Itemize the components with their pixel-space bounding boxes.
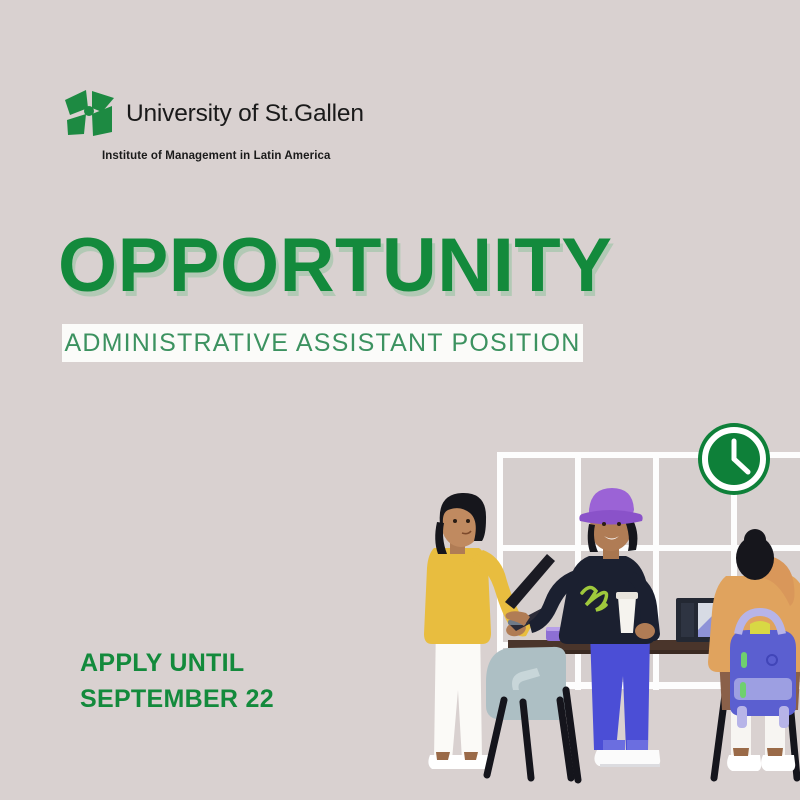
deadline-line-1: APPLY UNTIL [80, 645, 274, 681]
position-subtitle: ADMINISTRATIVE ASSISTANT POSITION [64, 329, 580, 358]
poster-canvas: University of St.Gallen Institute of Man… [0, 0, 800, 800]
university-logo: University of St.Gallen [62, 88, 364, 144]
deadline-line-2: SEPTEMBER 22 [80, 681, 274, 717]
office-chair [486, 647, 571, 778]
university-of-st-gallen-logo-mark [62, 88, 116, 144]
clock-icon [697, 422, 771, 496]
application-deadline: APPLY UNTIL SEPTEMBER 22 [80, 645, 274, 718]
subtitle-band: ADMINISTRATIVE ASSISTANT POSITION [62, 324, 583, 362]
page-title: OPPORTUNITY [58, 228, 612, 304]
logo-subtitle: Institute of Management in Latin America [102, 150, 331, 162]
logo-title: University of St.Gallen [126, 102, 364, 127]
